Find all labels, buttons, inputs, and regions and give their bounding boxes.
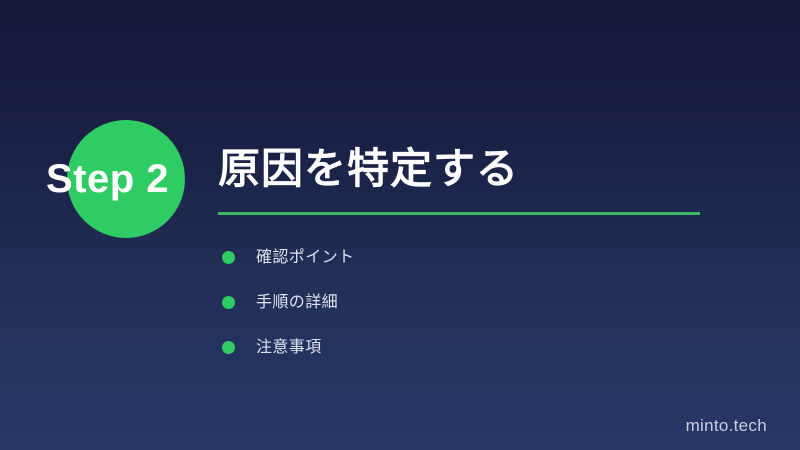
list-item: 確認ポイント — [218, 235, 758, 280]
step-badge: Step 2 — [0, 120, 215, 240]
list-item-label: 注意事項 — [256, 338, 322, 358]
page-title: 原因を特定する — [218, 143, 758, 195]
slide-canvas: Step 2 原因を特定する 確認ポイント 手順の詳細 注意事項 minto.t… — [0, 0, 800, 450]
bullet-dot-icon — [222, 341, 235, 354]
list-item-label: 手順の詳細 — [256, 293, 338, 313]
bullet-dot-icon — [222, 251, 235, 264]
bullet-list: 確認ポイント 手順の詳細 注意事項 — [218, 235, 758, 370]
title-underline-divider — [218, 212, 700, 215]
bullet-dot-icon — [222, 296, 235, 309]
list-item-label: 確認ポイント — [256, 248, 354, 268]
list-item: 手順の詳細 — [218, 280, 758, 325]
slide-content: 原因を特定する 確認ポイント 手順の詳細 注意事項 — [218, 143, 758, 370]
list-item: 注意事項 — [218, 325, 758, 370]
footer-brand: minto.tech — [686, 416, 767, 436]
step-badge-label: Step 2 — [0, 120, 215, 238]
